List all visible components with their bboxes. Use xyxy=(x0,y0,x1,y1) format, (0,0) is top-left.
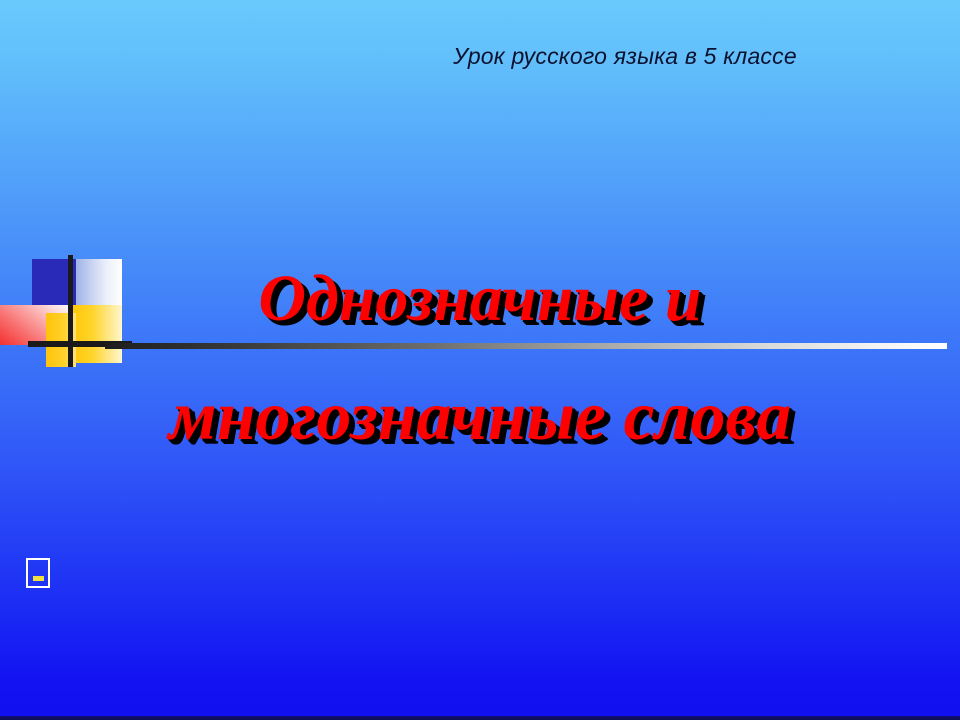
title-divider-rule xyxy=(105,343,947,349)
slide-header: Урок русского языка в 5 классе xyxy=(0,43,960,70)
slide-title: Однозначные и многозначные слова xyxy=(0,240,960,476)
slide-title-line-2: многозначные слова xyxy=(0,358,960,476)
slide-title-line-1: Однозначные и xyxy=(0,240,960,358)
slide-header-text: Урок русского языка в 5 классе xyxy=(453,43,797,70)
broken-image-dash-icon xyxy=(33,576,44,581)
presentation-slide: Урок русского языка в 5 классе Однозначн… xyxy=(0,0,960,720)
broken-image-placeholder-icon[interactable] xyxy=(26,558,50,588)
